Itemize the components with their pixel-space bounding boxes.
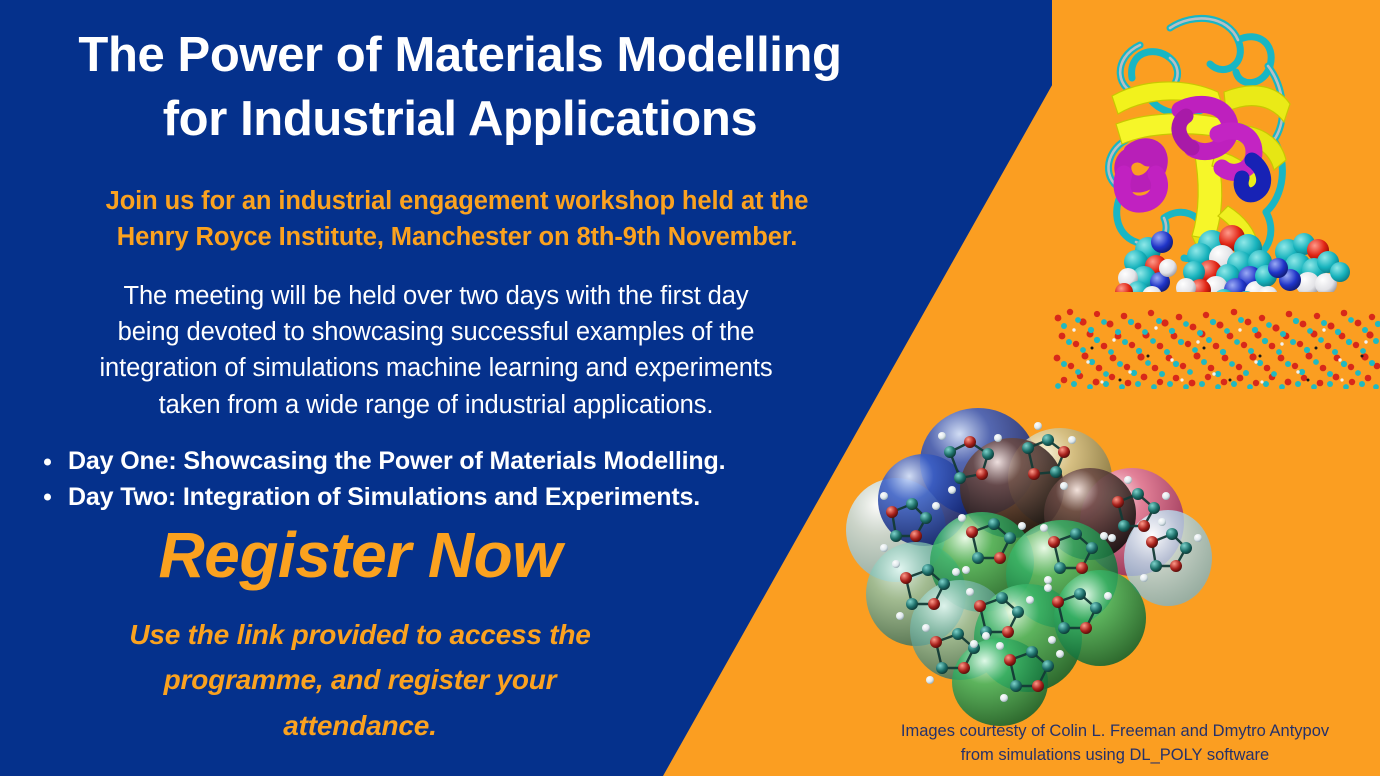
page-title: The Power of Materials Modelling for Ind…	[0, 24, 920, 151]
bullet-dot-icon	[44, 458, 51, 465]
event-subtitle: Join us for an industrial engagement wor…	[42, 183, 872, 256]
credit-line-2: from simulations using DL_POLY software	[855, 744, 1375, 768]
list-item: Day Two: Integration of Simulations and …	[40, 480, 890, 516]
credit-line-1: Images courtesty of Colin L. Freeman and…	[855, 720, 1375, 744]
bullet-dot-icon	[44, 494, 51, 501]
description-line-2: being devoted to showcasing successful e…	[26, 314, 846, 350]
left-text-column: The Power of Materials Modelling for Ind…	[0, 0, 920, 776]
description-line-1: The meeting will be held over two days w…	[26, 278, 846, 314]
image-credit: Images courtesty of Colin L. Freeman and…	[855, 720, 1375, 768]
title-line-2: for Industrial Applications	[18, 88, 902, 152]
event-description: The meeting will be held over two days w…	[26, 278, 846, 423]
description-line-3: integration of simulations machine learn…	[26, 350, 846, 386]
protein-simulation-image	[1052, 0, 1380, 389]
description-line-4: taken from a wide range of industrial ap…	[26, 387, 846, 423]
agenda-item-label: Day Two: Integration of Simulations and …	[68, 483, 700, 511]
cta-line-1: Use the link provided to access the	[35, 612, 685, 657]
subtitle-line-2: Henry Royce Institute, Manchester on 8th…	[42, 219, 872, 255]
cta-line-3: attendance.	[35, 703, 685, 748]
call-to-action-text: Use the link provided to access the prog…	[35, 612, 685, 748]
subtitle-line-1: Join us for an industrial engagement wor…	[42, 183, 872, 219]
agenda-item-label: Day One: Showcasing the Power of Materia…	[68, 447, 725, 475]
cta-line-2: programme, and register your	[35, 657, 685, 702]
register-now-heading[interactable]: Register Now	[0, 520, 720, 590]
agenda-list: Day One: Showcasing the Power of Materia…	[40, 444, 890, 515]
list-item: Day One: Showcasing the Power of Materia…	[40, 444, 890, 480]
poster-canvas: Images courtesty of Colin L. Freeman and…	[0, 0, 1380, 776]
title-line-1: The Power of Materials Modelling	[78, 28, 841, 82]
